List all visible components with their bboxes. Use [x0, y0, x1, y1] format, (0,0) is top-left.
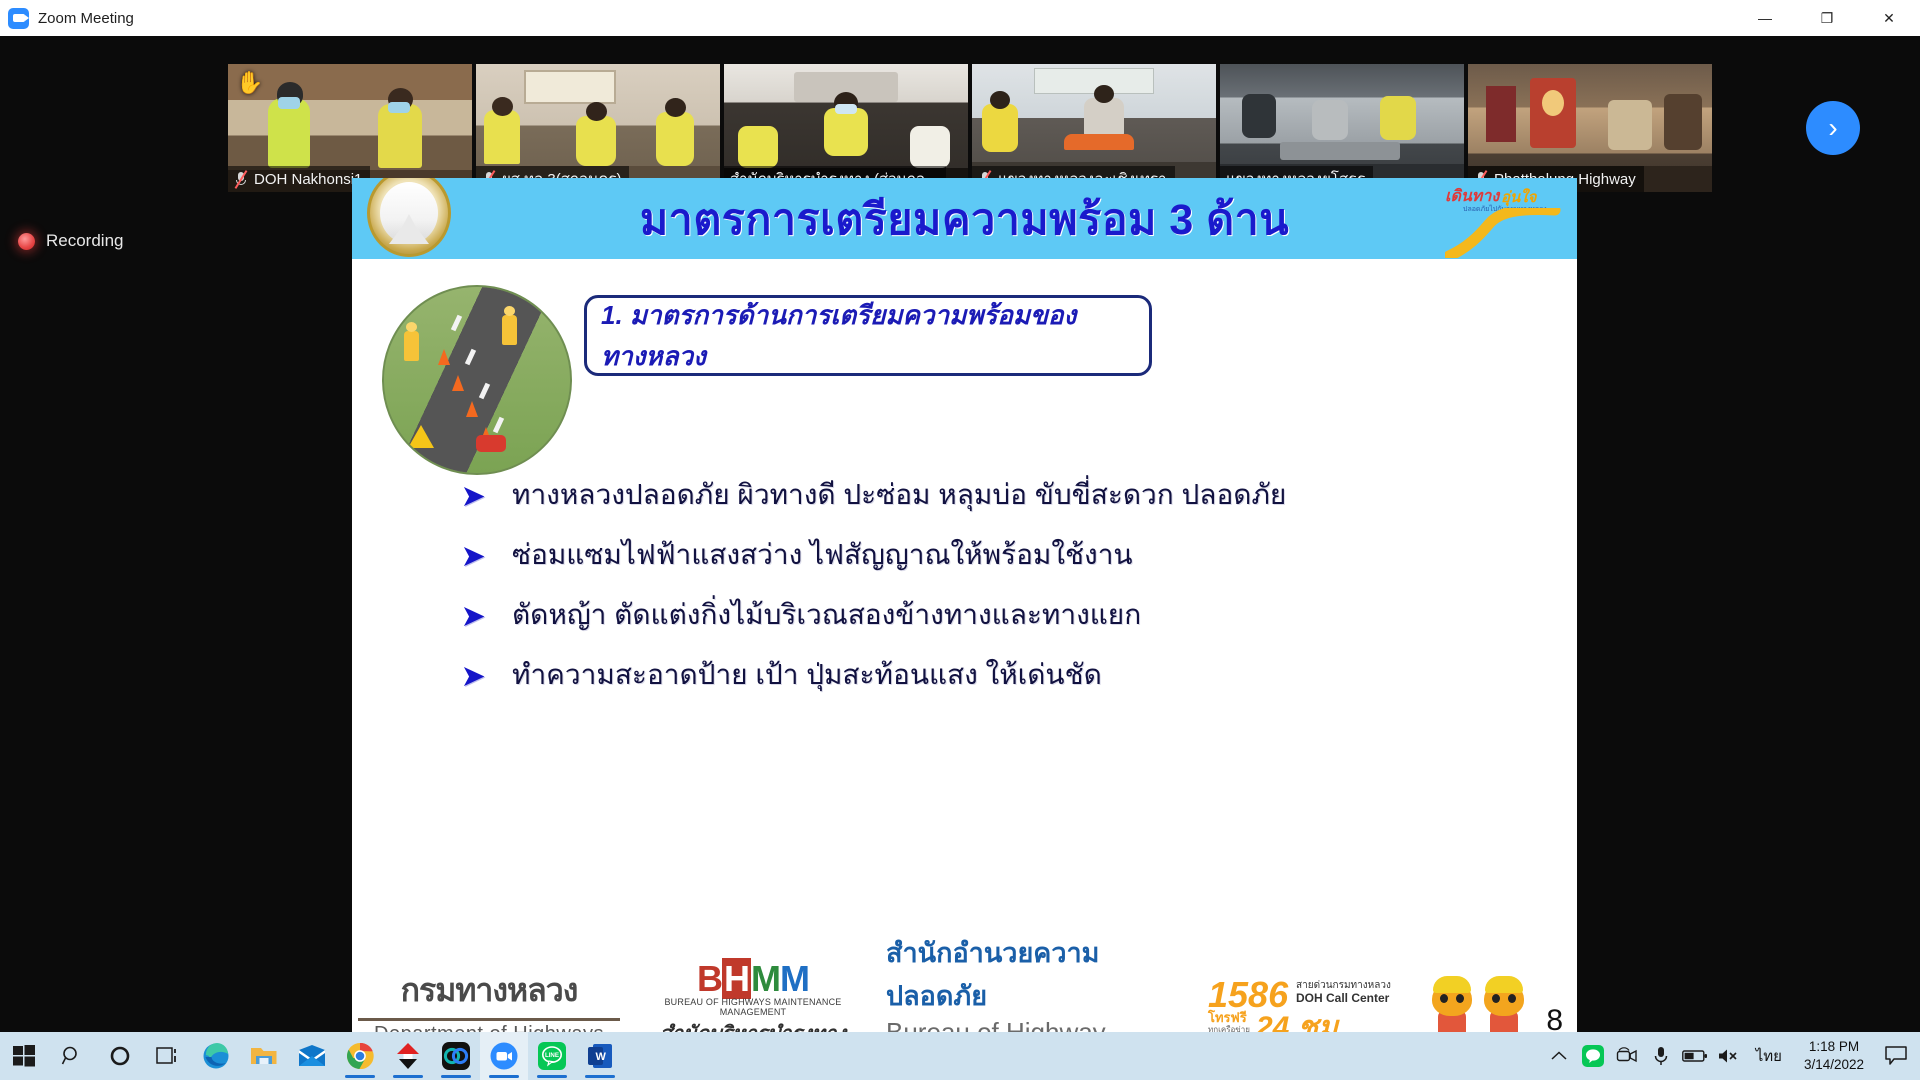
headline-text: 1. มาตรการด้านการเตรียมความพร้อมของทางหล…	[587, 295, 1149, 377]
camera-tray-icon[interactable]	[1610, 1032, 1644, 1080]
task-view-icon	[156, 1046, 180, 1066]
bullet-arrow-icon: ➤	[462, 603, 490, 630]
recording-indicator[interactable]: Recording	[18, 231, 124, 251]
participant-thumbnail[interactable]: Phatthalung Highway	[1468, 64, 1712, 192]
mail-icon	[298, 1045, 326, 1067]
bhs-thai: สำนักอำนวยความปลอดภัย	[886, 931, 1186, 1017]
zoom-icon	[490, 1042, 518, 1070]
minimize-button[interactable]: —	[1734, 0, 1796, 36]
cortana-icon	[109, 1045, 131, 1067]
system-tray: ไทย 1:18 PM 3/14/2022	[1542, 1032, 1920, 1080]
hotline-english: DOH Call Center	[1296, 991, 1389, 1005]
chevron-right-icon: ›	[1828, 114, 1837, 142]
file-explorer-button[interactable]	[240, 1032, 288, 1080]
hand-raise-icon: ✋	[236, 72, 263, 94]
zoom-app-icon	[8, 8, 29, 29]
list-item: ➤ ซ่อมแซมไฟฟ้าแสงสว่าง ไฟสัญญาณให้พร้อมใ…	[462, 538, 1462, 572]
mic-muted-icon	[234, 171, 248, 188]
clock-time: 1:18 PM	[1804, 1038, 1864, 1056]
titlebar-left: Zoom Meeting	[0, 8, 134, 29]
volume-muted-icon	[1717, 1047, 1741, 1065]
start-button[interactable]	[0, 1032, 48, 1080]
doh-campaign-logo: เดินทาง อุ่นใจ ปลอดภัยไปกับกรมทางหลวง	[1439, 184, 1563, 260]
microphone-tray-icon[interactable]	[1644, 1032, 1678, 1080]
zoom-button[interactable]	[480, 1032, 528, 1080]
bullet-list: ➤ ทางหลวงปลอดภัย ผิวทางดี ปะซ่อม หลุมบ่อ…	[462, 478, 1462, 719]
participant-thumbnail[interactable]: แขวงทางหลวงยโสธร	[1220, 64, 1464, 192]
participant-name: DOH Nakhonsi1	[254, 171, 362, 188]
svg-text:LINE: LINE	[545, 1052, 559, 1059]
chrome-icon	[346, 1042, 374, 1070]
action-center-button[interactable]	[1876, 1032, 1916, 1080]
edge-button[interactable]	[192, 1032, 240, 1080]
window-titlebar: Zoom Meeting — ❐ ✕	[0, 0, 1920, 36]
list-item: ➤ ทางหลวงปลอดภัย ผิวทางดี ปะซ่อม หลุมบ่อ…	[462, 478, 1462, 512]
input-language-button[interactable]: ไทย	[1746, 1044, 1792, 1068]
shared-screen-slide: มาตรการเตรียมความพร้อม 3 ด้าน เดินทาง อุ…	[352, 178, 1577, 1044]
participant-thumbnail-active[interactable]: สำนักบริหารบำรุงทาง (ส่วนกล...	[724, 64, 968, 192]
battery-tray-icon[interactable]	[1678, 1032, 1712, 1080]
microphone-tray-icon	[1653, 1045, 1669, 1067]
search-icon	[61, 1045, 83, 1067]
road-swoosh-icon	[1445, 208, 1561, 258]
edge-icon	[202, 1042, 230, 1070]
task-view-button[interactable]	[144, 1032, 192, 1080]
headline-box: 1. มาตรการด้านการเตรียมความพร้อมของทางหล…	[584, 295, 1152, 376]
filmstrip-next-button[interactable]: ›	[1806, 101, 1860, 155]
bhmm-mark: BHMM	[642, 961, 864, 997]
meeting-stage: ✋ DOH Nakhonsi1 ผส.ทล.3(สกลนคร)	[0, 36, 1920, 1044]
line-tray-icon	[1582, 1045, 1604, 1067]
recording-label: Recording	[46, 231, 124, 251]
show-hidden-icons-button[interactable]	[1542, 1032, 1576, 1080]
bullet-text: ทางหลวงปลอดภัย ผิวทางดี ปะซ่อม หลุมบ่อ ข…	[512, 478, 1286, 512]
recording-dot-icon	[18, 233, 35, 250]
list-item: ➤ ทำความสะอาดป้าย เป้า ปุ่มสะท้อนแสง ให้…	[462, 658, 1462, 692]
list-item: ➤ ตัดหญ้า ตัดแต่งกิ่งไม้บริเวณสองข้างทาง…	[462, 598, 1462, 632]
clock-button[interactable]: 1:18 PM 3/14/2022	[1792, 1038, 1876, 1074]
chrome-button[interactable]	[336, 1032, 384, 1080]
windows-taskbar: LINE W	[0, 1032, 1920, 1080]
participant-thumbnail[interactable]: แขวงทางหลวงฉะเชิงเทรา	[972, 64, 1216, 192]
roadwork-illustration	[382, 285, 572, 475]
maximize-button[interactable]: ❐	[1796, 0, 1858, 36]
windows-icon	[13, 1045, 35, 1067]
hotline-logo: 1586 สายด่วนกรมทางหลวง DOH Call Center โ…	[1208, 974, 1408, 1036]
bullet-text: ตัดหญ้า ตัดแต่งกิ่งไม้บริเวณสองข้างทางแล…	[512, 598, 1141, 632]
line-tray-icon[interactable]	[1576, 1032, 1610, 1080]
close-button[interactable]: ✕	[1858, 0, 1920, 36]
mascot-icon	[1430, 978, 1474, 1036]
mascot-icon	[1482, 978, 1526, 1036]
participant-filmstrip[interactable]: ✋ DOH Nakhonsi1 ผส.ทล.3(สกลนคร)	[0, 36, 1920, 178]
up-down-arrows-icon	[395, 1042, 421, 1070]
cortana-button[interactable]	[96, 1032, 144, 1080]
updater-button[interactable]	[384, 1032, 432, 1080]
doh-logo-thai: กรมทางหลวง	[358, 965, 620, 1021]
window-title: Zoom Meeting	[38, 10, 134, 27]
folder-icon	[250, 1044, 278, 1068]
mascot-group	[1430, 974, 1550, 1036]
bullet-arrow-icon: ➤	[462, 663, 490, 690]
bullet-arrow-icon: ➤	[462, 543, 490, 570]
battery-tray-icon	[1682, 1049, 1708, 1063]
participant-thumbnail[interactable]: ✋ DOH Nakhonsi1	[228, 64, 472, 192]
bullet-arrow-icon: ➤	[462, 483, 490, 510]
line-button[interactable]: LINE	[528, 1032, 576, 1080]
slide-title: มาตรการเตรียมความพร้อม 3 ด้าน	[352, 178, 1577, 259]
window-controls: — ❐ ✕	[1734, 0, 1920, 36]
search-button[interactable]	[48, 1032, 96, 1080]
participant-name-bar: DOH Nakhonsi1	[228, 166, 370, 192]
bhs-logo: สำนักอำนวยความปลอดภัย Bureau of Highway …	[886, 931, 1186, 1044]
clock-date: 3/14/2022	[1804, 1056, 1864, 1074]
participant-thumbnail[interactable]: ผส.ทล.3(สกลนคร)	[476, 64, 720, 192]
bullet-text: ซ่อมแซมไฟฟ้าแสงสว่าง ไฟสัญญาณให้พร้อมใช้…	[512, 538, 1133, 572]
volume-muted-tray-icon[interactable]	[1712, 1032, 1746, 1080]
line-icon: LINE	[538, 1042, 566, 1070]
svg-text:W: W	[596, 1051, 607, 1063]
action-center-icon	[1885, 1046, 1907, 1066]
camera-tray-icon	[1616, 1047, 1638, 1065]
chevron-up-icon	[1551, 1050, 1567, 1062]
webex-button[interactable]	[432, 1032, 480, 1080]
bullet-text: ทำความสะอาดป้าย เป้า ปุ่มสะท้อนแสง ให้เด…	[512, 658, 1102, 692]
webex-icon	[442, 1042, 470, 1070]
bhmm-subtitle: BUREAU OF HIGHWAYS MAINTENANCE MANAGEMEN…	[642, 997, 864, 1017]
slide-header: มาตรการเตรียมความพร้อม 3 ด้าน เดินทาง อุ…	[352, 178, 1577, 259]
mail-button[interactable]	[288, 1032, 336, 1080]
word-button[interactable]: W	[576, 1032, 624, 1080]
word-icon: W	[587, 1042, 613, 1070]
